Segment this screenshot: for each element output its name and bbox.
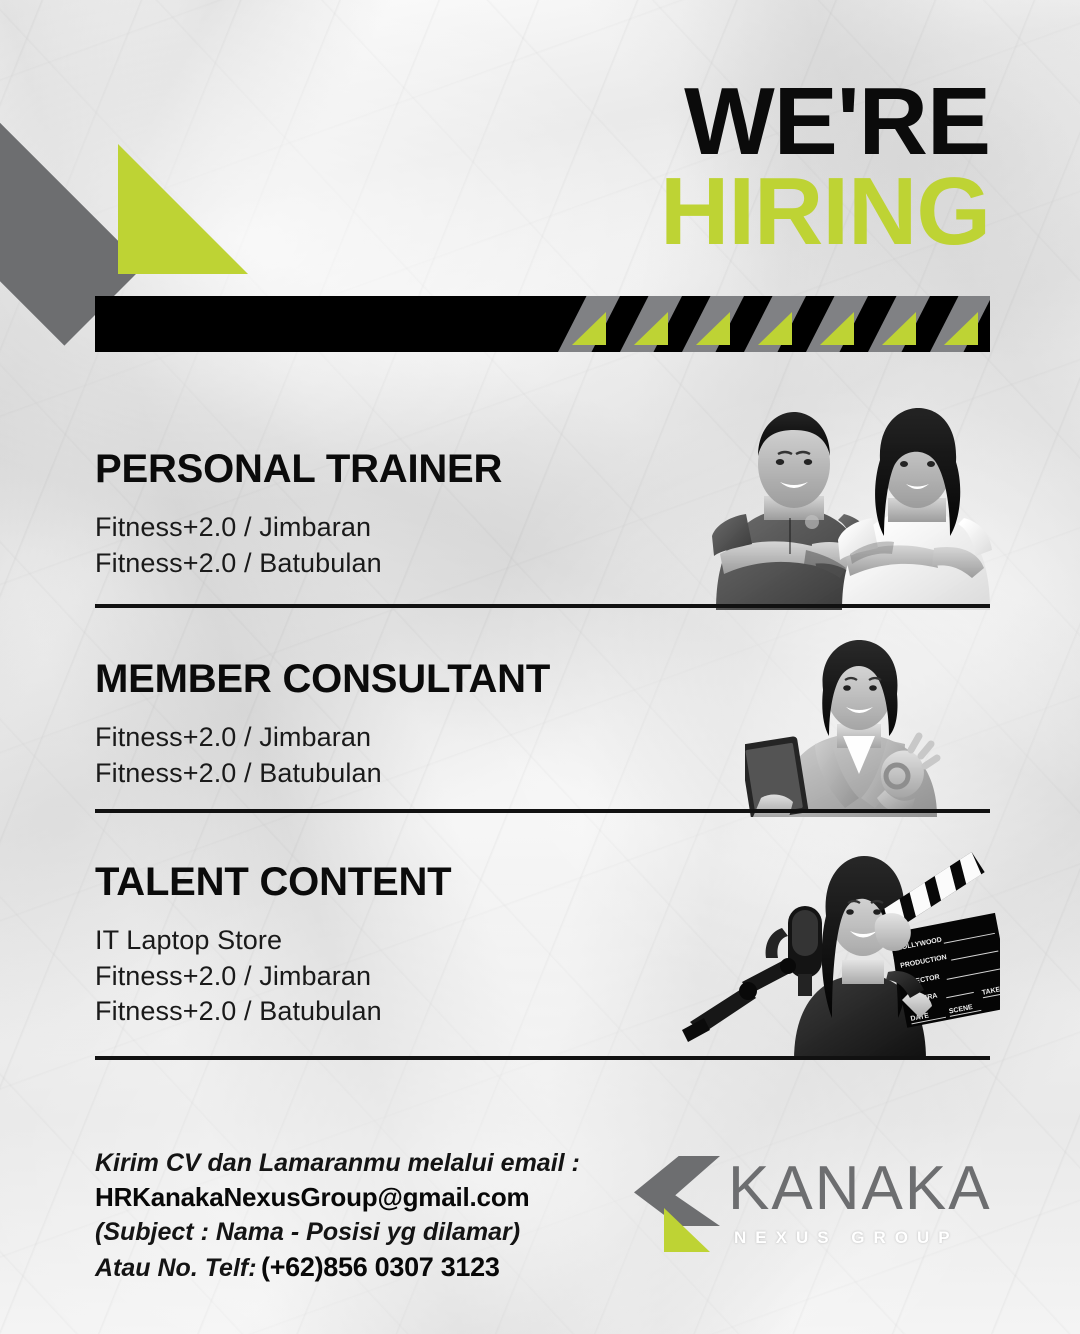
job-title: MEMBER CONSULTANT [95,657,550,702]
job-listing-personal-trainer: PERSONAL TRAINER Fitness+2.0 / Jimbaran … [95,447,502,581]
contact-phone-line: Atau No. Telf: (+62)856 0307 3123 [95,1249,580,1286]
logo-tagline: NEXUS GROUP [734,1228,959,1248]
decorative-banner [95,296,990,352]
job-location: Fitness+2.0 / Batubulan [95,756,550,792]
job-location: IT Laptop Store [95,923,451,959]
banner-pattern-unit [930,296,990,352]
contact-email[interactable]: HRKanakaNexusGroup@gmail.com [95,1180,580,1215]
contact-phone-number[interactable]: (+62)856 0307 3123 [261,1252,500,1282]
banner-pattern-unit [620,296,682,352]
banner-pattern-unit [682,296,744,352]
job-location: Fitness+2.0 / Jimbaran [95,720,550,756]
banner-pattern-unit [744,296,806,352]
kanaka-k-mark-icon [634,1156,720,1254]
member-consultant-photo [745,612,995,817]
job-location: Fitness+2.0 / Jimbaran [95,959,451,995]
job-listing-talent-content: TALENT CONTENT IT Laptop Store Fitness+2… [95,860,451,1030]
banner-pattern-unit [806,296,868,352]
logo-wordmark: KANAKA [728,1158,992,1220]
section-divider [95,1056,990,1060]
job-location: Fitness+2.0 / Jimbaran [95,510,502,546]
kanaka-chevron-shape [634,1156,720,1226]
contact-phone-label: Atau No. Telf: [95,1254,257,1282]
headline-line-hiring: HIRING [660,168,990,256]
hiring-poster: WE'RE HIRING PERSONAL TRAINER Fitness+2.… [0,0,1080,1334]
job-location: Fitness+2.0 / Batubulan [95,994,451,1030]
section-divider [95,604,990,608]
banner-pattern-unit [868,296,930,352]
job-title: TALENT CONTENT [95,860,451,905]
contact-instruction: Kirim CV dan Lamaranmu melalui email : [95,1146,580,1180]
job-listing-member-consultant: MEMBER CONSULTANT Fitness+2.0 / Jimbaran… [95,657,550,791]
headline-line-were: WE'RE [660,78,990,166]
kanaka-logo: KANAKA NEXUS GROUP [634,1152,1004,1260]
headline: WE'RE HIRING [660,78,990,257]
job-location: Fitness+2.0 / Batubulan [95,546,502,582]
job-title: PERSONAL TRAINER [95,447,502,492]
section-divider [95,809,990,813]
contact-block: Kirim CV dan Lamaranmu melalui email : H… [95,1146,580,1286]
contact-subject-note: (Subject : Nama - Posisi yg dilamar) [95,1215,580,1249]
personal-trainer-photo [660,368,1000,610]
banner-triangle-pattern [558,296,990,352]
talent-content-photo: HOLLYWOOD PRODUCTION DIRECTOR CAMERA DAT… [682,832,1000,1060]
banner-pattern-unit [558,296,620,352]
